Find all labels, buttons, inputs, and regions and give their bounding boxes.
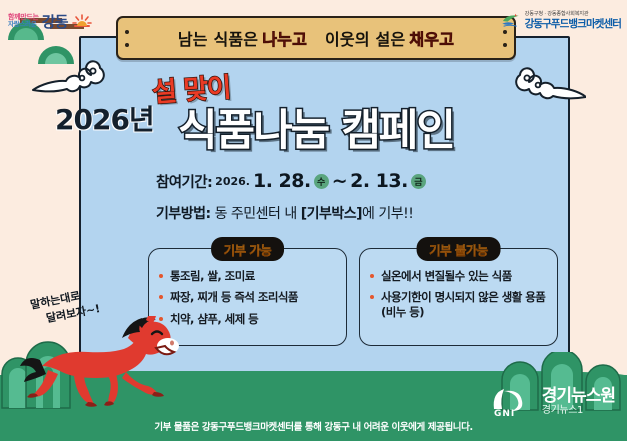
banner-text: 남는 식품은 나누고 이웃의 설은 채우고: [178, 26, 454, 50]
footer-note: 기부 물품은 강동구푸드뱅크마켓센터를 통해 강동구 내 어려운 이웃에게 제공…: [0, 419, 627, 433]
press-logo-text: 경기뉴스원 경기뉴스1: [542, 388, 615, 416]
period-start: 1. 28.: [253, 170, 311, 192]
foodbank-logo-line2: 강동구푸드뱅크마켓센터: [525, 18, 621, 30]
running-horse-illustration: [18, 316, 188, 416]
city-logo-line2: 자랑스러운: [8, 21, 39, 28]
period-range-mark: ~: [332, 170, 347, 192]
method-text1: 동 주민센터 내: [215, 206, 297, 222]
donation-cards: 기부 가능 통조림, 쌀, 조미료 짜장, 찌개 등 즉석 조리식품 치약, 샴…: [148, 248, 558, 346]
banner-highlight1: 나누고: [262, 26, 307, 50]
svg-text:GNI: GNI: [494, 409, 515, 417]
banner-part2: 이웃의 설은: [325, 26, 405, 50]
campaign-poster: 남는 식품은 나누고 이웃의 설은 채우고 함께만드는 자랑스러운 강동: [0, 0, 627, 441]
list-item: 실온에서 변질될수 있는 식품: [370, 269, 549, 283]
donation-method: 기부방법: 동 주민센터 내 [기부박스]에 기부!!: [156, 203, 413, 223]
method-box: [기부박스]: [301, 206, 362, 222]
gni-logo-icon: GNI: [490, 387, 536, 417]
period-label: 참여기간:: [156, 171, 212, 192]
press-logo: GNI 경기뉴스원 경기뉴스1: [490, 387, 615, 417]
card-not-allowed-header: 기부 불가능: [416, 237, 501, 261]
sunrise-icon: [71, 11, 93, 31]
city-logo-tagline: 함께만드는 자랑스러운: [8, 14, 39, 28]
gangdong-city-logo: 함께만드는 자랑스러운 강동: [8, 6, 112, 36]
foodbank-logo-text: 강동구청 · 강동종합사회복지관 강동구푸드뱅크마켓센터: [525, 12, 621, 30]
foodbank-logo: 강동구청 · 강동종합사회복지관 강동구푸드뱅크마켓센터: [501, 5, 621, 37]
method-text2: 에 기부!!: [362, 206, 413, 222]
card-not-allowed: 기부 불가능 실온에서 변질될수 있는 식품 사용기한이 명시되지 않은 생활 …: [359, 248, 558, 346]
participation-period: 참여기간: 2026. 1. 28. 수 ~ 2. 13. 금: [156, 170, 426, 192]
list-item: 통조림, 쌀, 조미료: [159, 269, 338, 283]
card-not-allowed-list: 실온에서 변질될수 있는 식품 사용기한이 명시되지 않은 생활 용품(비누 등…: [370, 269, 549, 319]
banner-dots-left: [125, 30, 129, 47]
cloud-motif-left: [30, 60, 108, 100]
title-accent: 설 맞이: [151, 65, 231, 109]
method-label: 기부방법:: [156, 206, 211, 222]
city-logo-wordmark: 강동: [42, 11, 68, 32]
period-end: 2. 13.: [350, 170, 408, 192]
cloud-motif-right: [508, 66, 586, 108]
list-item: 사용기한이 명시되지 않은 생활 용품(비누 등): [370, 290, 549, 319]
top-banner: 남는 식품은 나누고 이웃의 설은 채우고: [116, 16, 516, 60]
card-allowed-header: 기부 가능: [211, 237, 285, 261]
list-item: 짜장, 찌개 등 즉석 조리식품: [159, 290, 338, 304]
banner-part1: 남는 식품은: [178, 26, 258, 50]
wave-leaf-icon: [501, 8, 521, 34]
banner-highlight2: 채우고: [409, 26, 454, 50]
press-logo-line1: 경기뉴스원: [542, 388, 615, 406]
period-start-day-badge: 수: [314, 174, 329, 189]
title-year: 2026년: [55, 98, 154, 138]
press-logo-line2: 경기뉴스1: [542, 406, 615, 417]
period-year: 2026.: [215, 175, 250, 188]
period-end-day-badge: 금: [411, 174, 426, 189]
title-main: 식품나눔 캠페인: [178, 96, 454, 158]
